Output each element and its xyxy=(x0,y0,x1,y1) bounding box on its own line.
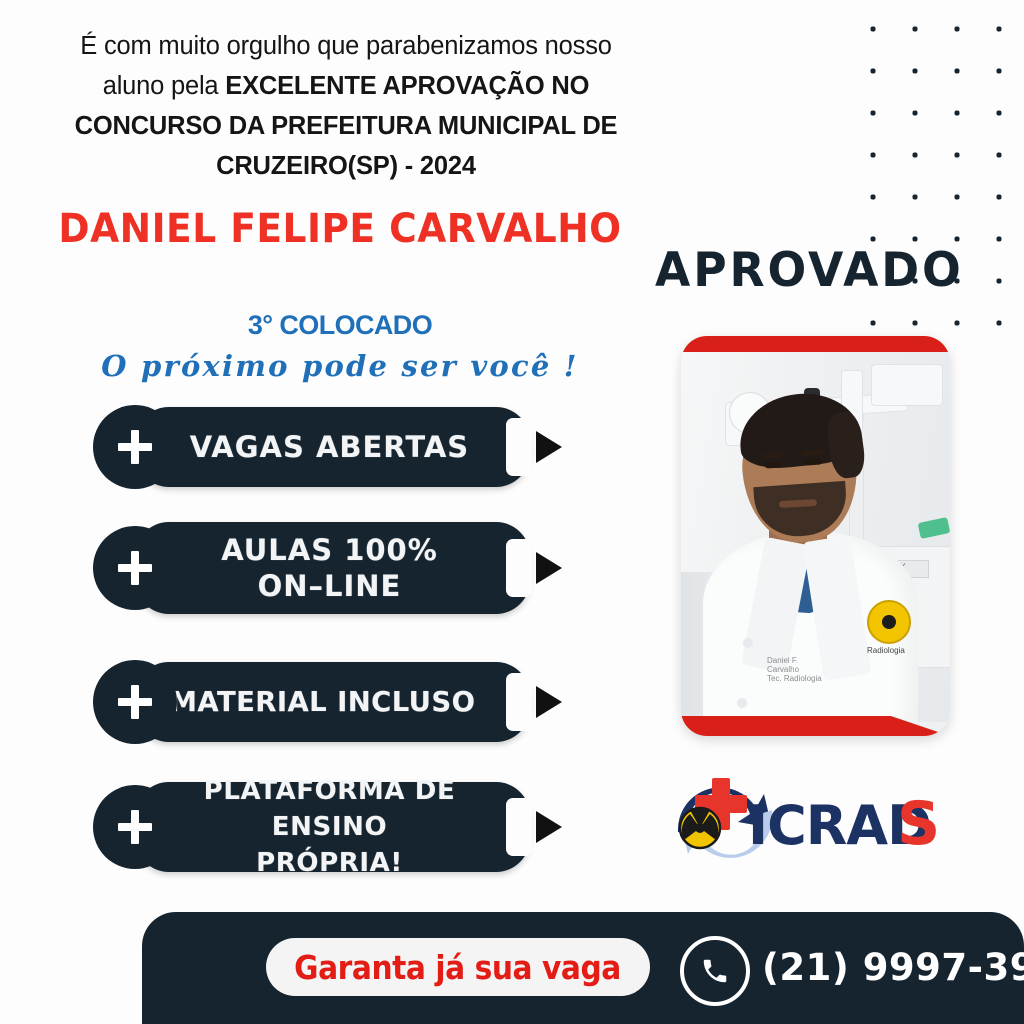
guarantee-spot-button[interactable]: Garanta já sua vaga xyxy=(266,938,650,996)
pill-notch xyxy=(506,798,532,856)
logo-wordmark-red: S xyxy=(897,789,940,859)
student-photo: CDK Radiologia Daniel F. Carvalho Tec. R… xyxy=(681,336,950,736)
plus-icon xyxy=(93,405,177,489)
coat-patch-label: Radiologia xyxy=(867,646,905,655)
bottom-cta-bar: Garanta já sua vaga (21) 9997-39525 xyxy=(142,912,1024,1024)
headline-line-3: CONCURSO DA PREFEITURA MUNICIPAL DE xyxy=(8,106,684,146)
radiation-patch-icon xyxy=(867,600,911,644)
page-title: É com muito orgulho que parabenizamos no… xyxy=(8,26,684,186)
pill-notch xyxy=(506,673,532,731)
headline-line-4: CRUZEIRO(SP) - 2024 xyxy=(8,146,684,186)
phone-glyph xyxy=(700,956,730,986)
coat-name-embroidery: Daniel F. Carvalho Tec. Radiologia xyxy=(767,656,831,678)
xray-head-mount xyxy=(871,364,943,406)
play-triangle-icon xyxy=(536,552,562,584)
student-placing: 3° COLOCADO xyxy=(10,310,670,341)
play-triangle-icon xyxy=(536,811,562,843)
promo-poster: É com muito orgulho que parabenizamos no… xyxy=(0,0,1024,1024)
phone-icon[interactable] xyxy=(680,936,750,1006)
feature-pill-plataforma-propria[interactable]: PLATAFORMA DE ENSINO PRÓPRIA! xyxy=(135,782,530,872)
eye-right xyxy=(805,458,822,465)
headline-line-2-normal: aluno pela xyxy=(103,72,226,100)
icrads-logo-svg: ICRAD S xyxy=(660,770,970,870)
student-tagline: O próximo pode ser você ! xyxy=(10,349,670,383)
play-triangle-icon xyxy=(536,431,562,463)
feature-pill-vagas-abertas[interactable]: VAGAS ABERTAS xyxy=(135,407,530,487)
plus-icon xyxy=(93,526,177,610)
coat-name-line-2: Tec. Radiologia xyxy=(767,674,831,683)
student-name: DANIEL FELIPE CARVALHO xyxy=(30,206,650,252)
photo-red-bar-top xyxy=(681,336,950,352)
cta-label: Garanta já sua vaga xyxy=(295,948,622,987)
feature-label: VAGAS ABERTAS xyxy=(168,429,497,465)
feature-label: MATERIAL INCLUSO xyxy=(162,684,504,720)
plus-icon xyxy=(93,785,177,869)
headline-line-2: aluno pela EXCELENTE APROVAÇÃO NO xyxy=(8,66,684,106)
play-triangle-icon xyxy=(536,686,562,718)
phone-number[interactable]: (21) 9997-39525 xyxy=(762,946,1024,989)
feature-label: PLATAFORMA DE ENSINO PRÓPRIA! xyxy=(135,773,530,881)
icrads-logo: ICRAD S xyxy=(660,770,970,870)
feature-pill-material-incluso[interactable]: MATERIAL INCLUSO xyxy=(135,662,530,742)
eye-left xyxy=(765,461,782,468)
feature-label: AULAS 100% ON–LINE xyxy=(199,532,466,604)
photo-image: CDK Radiologia Daniel F. Carvalho Tec. R… xyxy=(681,350,950,722)
radiation-icon xyxy=(680,807,720,848)
feature-pill-aulas-online[interactable]: AULAS 100% ON–LINE xyxy=(135,522,530,614)
coat-button xyxy=(743,638,753,648)
plus-icon xyxy=(93,660,177,744)
headline-line-2-bold: EXCELENTE APROVAÇÃO NO xyxy=(225,72,589,100)
coat-name-line-1: Daniel F. Carvalho xyxy=(767,656,831,674)
approved-stamp: APROVADO xyxy=(655,243,964,298)
coat-button xyxy=(737,698,747,708)
pill-notch xyxy=(506,418,532,476)
headline-line-1: É com muito orgulho que parabenizamos no… xyxy=(8,26,684,66)
pill-notch xyxy=(506,539,532,597)
